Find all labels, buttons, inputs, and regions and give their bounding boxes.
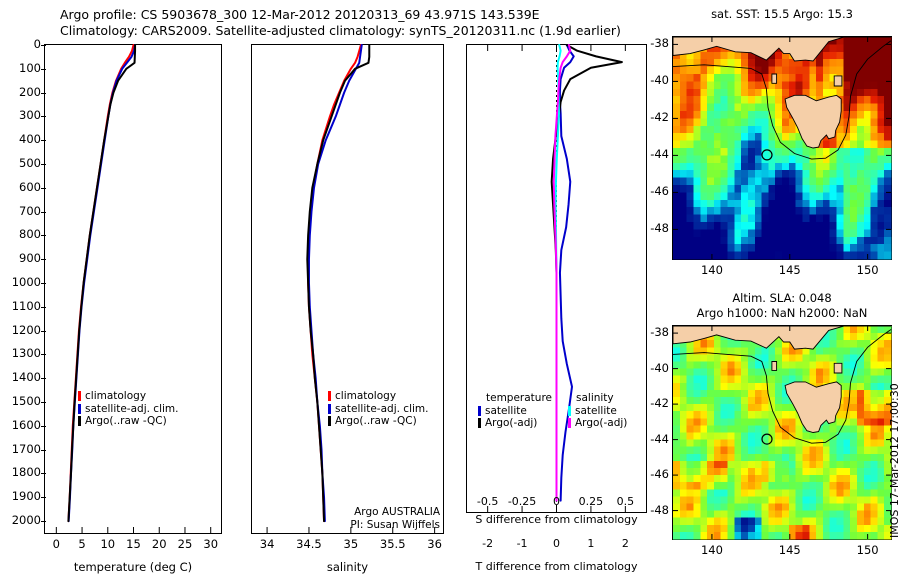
legend-item: climatology: [78, 390, 178, 403]
temperature-profile-plot: [45, 45, 221, 533]
sst-map-panel: [672, 36, 892, 260]
legend-label: Argo(..raw -QC): [85, 415, 167, 428]
depth-tick-mark: [41, 140, 46, 141]
depth-tick-mark: [41, 497, 46, 498]
legend-item: satellite-adj. clim.: [328, 403, 428, 416]
figure-title-line2: Climatology: CARS2009. Satellite-adjuste…: [60, 23, 621, 38]
depth-tick-label: 1200: [3, 323, 41, 337]
imos-credit: IMOS 17-Mar-2012 17:00:30: [888, 383, 900, 538]
salinity-profile-panel: [251, 44, 444, 534]
legend-item: satellite-adj. clim.: [78, 403, 178, 416]
depth-tick-mark: [41, 283, 46, 284]
depth-tick-mark: [41, 235, 46, 236]
legend-label: satellite: [485, 405, 527, 418]
depth-tick-label: 1100: [3, 299, 41, 313]
salinity-axis-label: salinity: [251, 560, 444, 574]
depth-tick-label: 1300: [3, 346, 41, 360]
depth-tick-label: 1800: [3, 465, 41, 479]
legend-color-swatch: [328, 391, 331, 401]
temperature-profile-panel: [44, 44, 222, 534]
latitude-tick-label: -38: [639, 325, 669, 339]
depth-tick-label: 1600: [3, 418, 41, 432]
legend-item: satellite: [568, 405, 627, 418]
depth-tick-label: 1000: [3, 275, 41, 289]
latitude-tick-label: -44: [639, 147, 669, 161]
depth-tick-mark: [41, 426, 46, 427]
difference-profile-panel: [466, 44, 647, 513]
depth-tick-mark: [41, 188, 46, 189]
longitude-tick-label: 140: [687, 263, 737, 277]
legend-color-swatch: [78, 416, 81, 426]
depth-tick-mark: [41, 69, 46, 70]
depth-tick-label: 800: [3, 227, 41, 241]
legend-label: satellite-adj. clim.: [85, 403, 178, 416]
axis-tick-label: 36: [405, 537, 465, 551]
figure-root: Argo profile: CS 5903678_300 12-Mar-2012…: [0, 0, 900, 580]
depth-tick-label: 1400: [3, 370, 41, 384]
latitude-tick-label: -48: [639, 221, 669, 235]
depth-tick-mark: [41, 212, 46, 213]
latitude-tick-label: -40: [639, 73, 669, 87]
legend-color-swatch: [328, 416, 331, 426]
legend-label: Argo(-adj): [485, 417, 537, 430]
figure-title-line1: Argo profile: CS 5903678_300 12-Mar-2012…: [60, 7, 540, 22]
sla-map-panel: [672, 325, 892, 540]
temperature-legend: climatologysatellite-adj. clim.Argo(..ra…: [78, 390, 178, 428]
difference-profile-plot: [467, 45, 646, 512]
depth-tick-mark: [41, 450, 46, 451]
salinity-difference-axis-label: S difference from climatology: [466, 513, 647, 526]
depth-tick-label: 600: [3, 180, 41, 194]
depth-tick-label: 500: [3, 156, 41, 170]
difference-legend-temperature-items: satelliteArgo(-adj): [478, 405, 552, 430]
longitude-tick-label: 150: [843, 263, 893, 277]
legend-label: climatology: [85, 390, 146, 403]
longitude-tick-label: 145: [765, 543, 815, 557]
legend-item: Argo(-adj): [478, 417, 552, 430]
depth-tick-mark: [41, 259, 46, 260]
depth-tick-mark: [41, 378, 46, 379]
depth-tick-mark: [41, 521, 46, 522]
depth-tick-mark: [41, 93, 46, 94]
latitude-tick-label: -40: [639, 361, 669, 375]
latitude-tick-label: -46: [639, 184, 669, 198]
program-annotation-line2: PI: Susan Wijffels: [274, 519, 440, 532]
legend-label: Argo(..raw -QC): [335, 415, 417, 428]
depth-tick-label: 1700: [3, 442, 41, 456]
legend-label: Argo(-adj): [575, 417, 627, 430]
depth-tick-mark: [41, 45, 46, 46]
depth-tick-label: 100: [3, 61, 41, 75]
longitude-tick-label: 145: [765, 263, 815, 277]
depth-tick-mark: [41, 116, 46, 117]
legend-label: satellite-adj. clim.: [335, 403, 428, 416]
depth-tick-label: 200: [3, 85, 41, 99]
latitude-tick-label: -48: [639, 503, 669, 517]
depth-tick-label: 400: [3, 132, 41, 146]
difference-legend-salinity-header: salinity: [568, 392, 627, 405]
axis-tick-label: 2: [595, 537, 655, 550]
legend-label: satellite: [575, 405, 617, 418]
legend-color-swatch: [478, 406, 481, 416]
latitude-tick-label: -46: [639, 467, 669, 481]
latitude-tick-label: -44: [639, 432, 669, 446]
legend-item: Argo(..raw -QC): [78, 415, 178, 428]
longitude-tick-label: 150: [843, 543, 893, 557]
depth-tick-mark: [41, 307, 46, 308]
depth-tick-label: 2000: [3, 513, 41, 527]
depth-tick-label: 1900: [3, 489, 41, 503]
depth-tick-mark: [41, 473, 46, 474]
depth-tick-label: 1500: [3, 394, 41, 408]
legend-color-swatch: [478, 418, 481, 428]
legend-item: Argo(-adj): [568, 417, 627, 430]
legend-label: climatology: [335, 390, 396, 403]
legend-color-swatch: [568, 418, 571, 428]
depth-tick-label: 900: [3, 251, 41, 265]
sst-map-title: sat. SST: 15.5 Argo: 15.3: [672, 7, 892, 21]
difference-legend-temperature: temperature satelliteArgo(-adj): [478, 392, 552, 430]
difference-legend-salinity-items: satelliteArgo(-adj): [568, 405, 627, 430]
depth-tick-label: 300: [3, 108, 41, 122]
salinity-legend: climatologysatellite-adj. clim.Argo(..ra…: [328, 390, 428, 428]
legend-item: Argo(..raw -QC): [328, 415, 428, 428]
sst-map-plot: [673, 37, 891, 259]
legend-color-swatch: [328, 404, 331, 414]
depth-tick-mark: [41, 354, 46, 355]
depth-tick-mark: [41, 402, 46, 403]
latitude-tick-label: -38: [639, 36, 669, 50]
temperature-difference-axis-label: T difference from climatology: [466, 560, 647, 573]
sla-map-title-line2: Argo h1000: NaN h2000: NaN: [662, 306, 900, 320]
legend-color-swatch: [568, 406, 571, 416]
latitude-tick-label: -42: [639, 110, 669, 124]
difference-legend-salinity: salinity satelliteArgo(-adj): [568, 392, 627, 430]
depth-tick-mark: [41, 331, 46, 332]
latitude-tick-label: -42: [639, 396, 669, 410]
legend-color-swatch: [78, 391, 81, 401]
depth-tick-label: 0: [3, 37, 41, 51]
salinity-profile-plot: [252, 45, 443, 533]
depth-tick-label: 700: [3, 204, 41, 218]
temperature-axis-label: temperature (deg C): [44, 560, 222, 574]
axis-tick-label: 30: [181, 537, 241, 551]
legend-item: satellite: [478, 405, 552, 418]
longitude-tick-label: 140: [687, 543, 737, 557]
sla-map-plot: [673, 326, 891, 539]
sla-map-title-line1: Altim. SLA: 0.048: [672, 291, 892, 305]
program-annotation-line1: Argo AUSTRALIA: [274, 506, 440, 519]
difference-legend-temperature-header: temperature: [478, 392, 552, 405]
depth-tick-mark: [41, 164, 46, 165]
legend-item: climatology: [328, 390, 428, 403]
legend-color-swatch: [78, 404, 81, 414]
